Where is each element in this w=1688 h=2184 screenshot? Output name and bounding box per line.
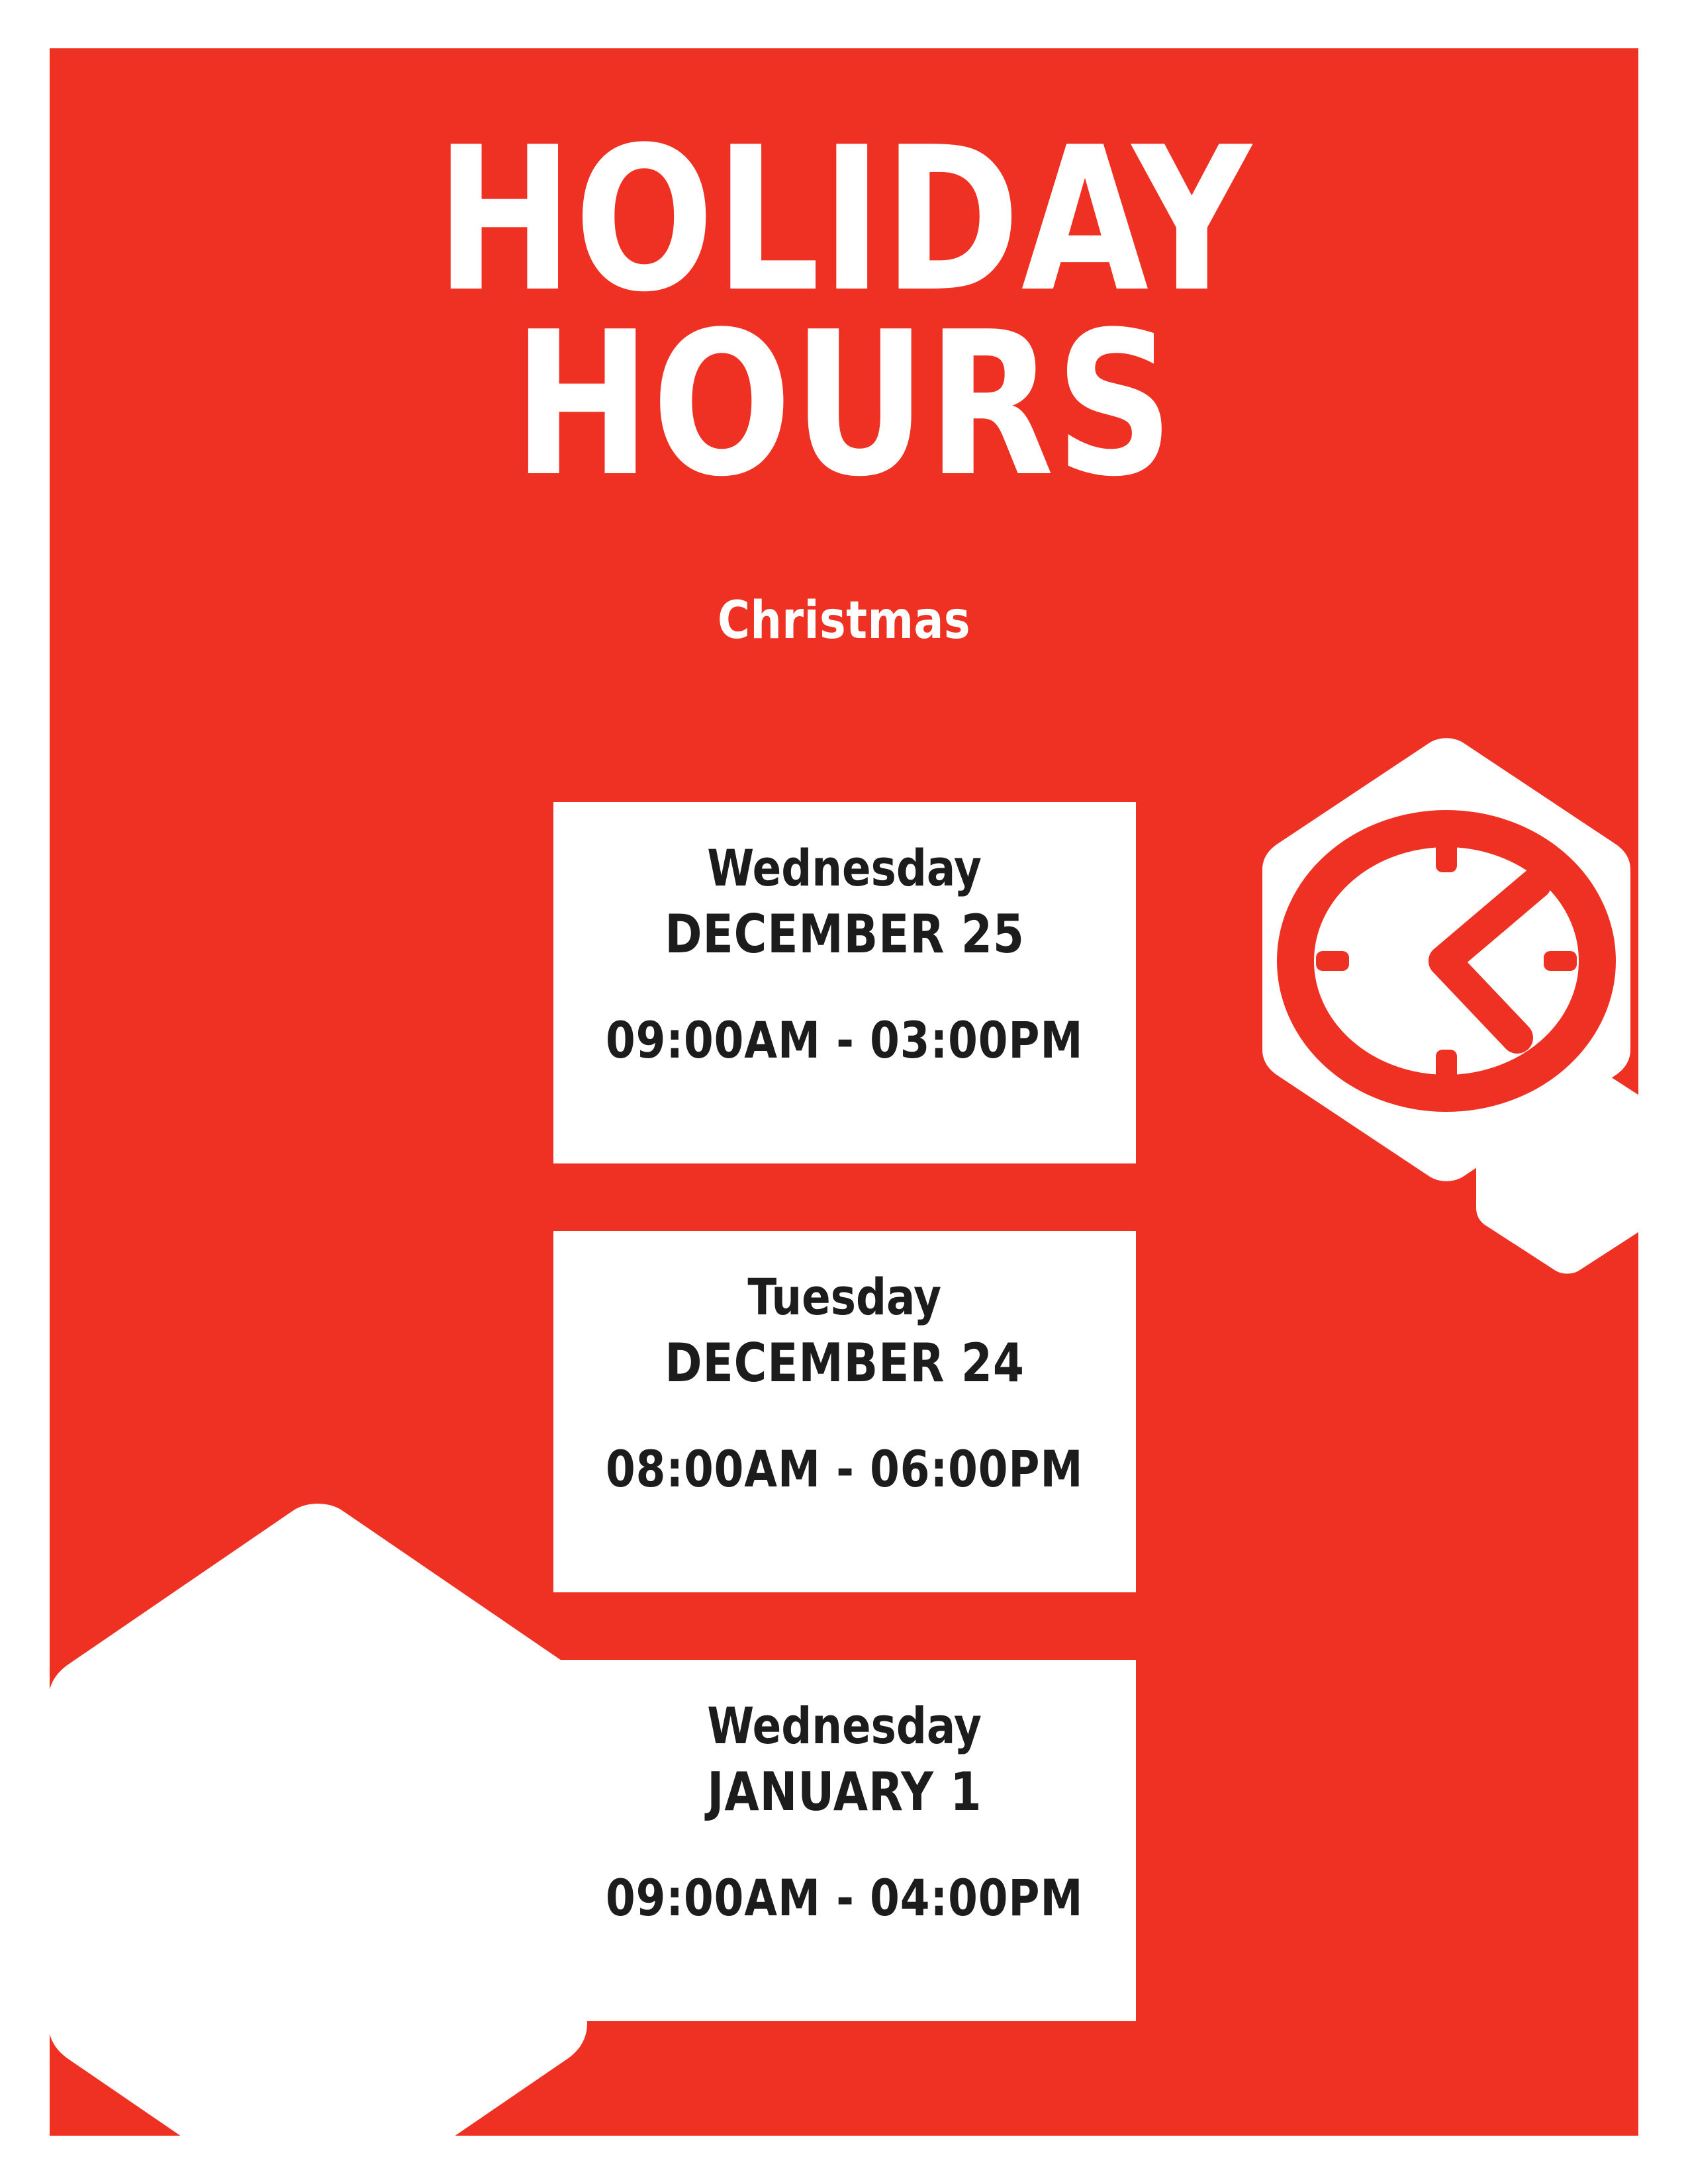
page-title: HOLIDAY HOURS: [50, 128, 1638, 497]
schedule-day: Tuesday: [748, 1272, 942, 1322]
schedule-date: DECEMBER 25: [665, 908, 1025, 961]
clock-tick-12: [1436, 841, 1457, 872]
poster-red-panel: HOLIDAY HOURS Christmas: [50, 48, 1638, 2136]
hexagon-decoration-large: [50, 1498, 592, 2136]
poster-subtitle: Christmas: [89, 591, 1599, 651]
schedule-date: DECEMBER 24: [665, 1337, 1025, 1390]
holiday-hours-poster: HOLIDAY HOURS Christmas: [0, 0, 1688, 2184]
schedule-card: Tuesday DECEMBER 24 08:00AM - 06:00PM: [553, 1231, 1136, 1592]
clock-tick-6: [1436, 1050, 1457, 1081]
schedule-day: Wednesday: [708, 843, 982, 893]
title-line-holiday: HOLIDAY: [113, 128, 1575, 312]
clock-tick-3: [1544, 951, 1577, 971]
schedule-date: JANUARY 1: [707, 1766, 982, 1819]
clock-tick-9: [1316, 951, 1349, 971]
clock-hexagon-badge: [1211, 728, 1638, 1191]
schedule-hours: 08:00AM - 06:00PM: [606, 1444, 1083, 1494]
schedule-hours: 09:00AM - 03:00PM: [606, 1015, 1083, 1066]
schedule-card: Wednesday DECEMBER 25 09:00AM - 03:00PM: [553, 802, 1136, 1163]
hexagon-decoration-icon: [50, 1498, 592, 2136]
clock-hexagon-icon: [1211, 728, 1638, 1191]
title-line-hours: HOURS: [113, 312, 1575, 497]
schedule-hours: 09:00AM - 04:00PM: [606, 1873, 1083, 1923]
schedule-day: Wednesday: [708, 1701, 982, 1751]
schedule-card: Wednesday JANUARY 1 09:00AM - 04:00PM: [553, 1660, 1136, 2021]
